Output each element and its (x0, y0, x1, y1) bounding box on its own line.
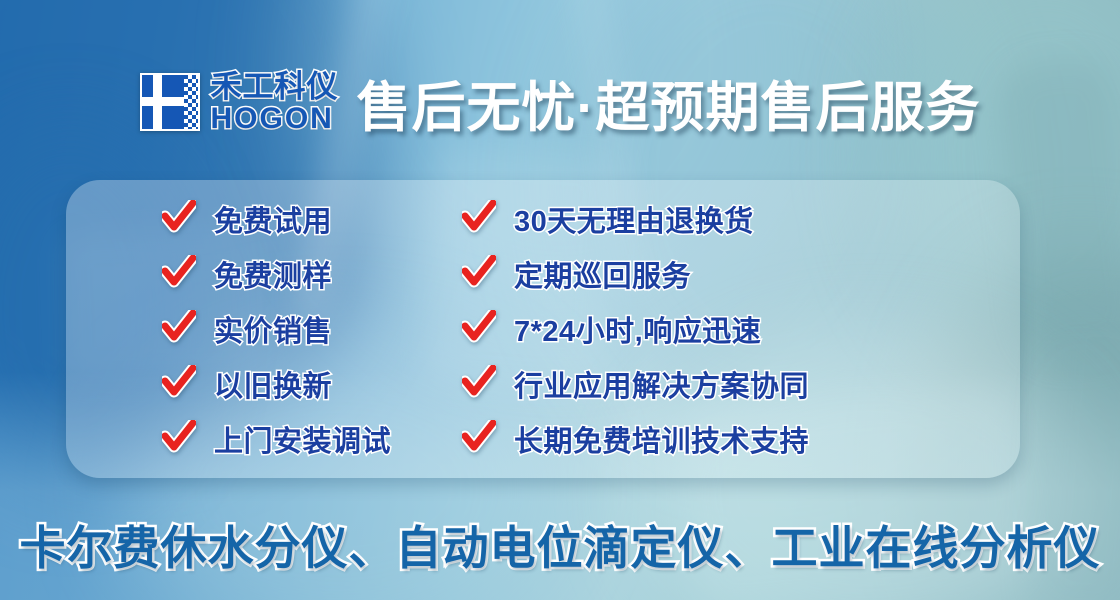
feature-label: 免费试用 (214, 198, 332, 240)
red-checkmark-icon (162, 420, 196, 454)
red-checkmark-icon (162, 310, 196, 344)
nordic-flag-logo-icon (140, 71, 202, 133)
feature-item: 上门安装调试 (162, 417, 462, 462)
features-panel: 免费试用 免费测样 实价销售 (66, 180, 1020, 478)
page-title: 售后无忧·超预期售后服务 (357, 63, 981, 142)
red-checkmark-icon (162, 255, 196, 289)
red-checkmark-icon (462, 420, 496, 454)
brand-name-cn: 禾工科仪 (211, 71, 339, 102)
feature-item: 定期巡回服务 (462, 252, 932, 297)
feature-label: 实价销售 (214, 308, 332, 350)
red-checkmark-icon (462, 200, 496, 234)
promo-banner: 禾工科仪 HOGON 售后无忧·超预期售后服务 免费试用 免费测样 (0, 0, 1120, 600)
feature-label: 以旧换新 (214, 363, 332, 405)
feature-label: 上门安装调试 (214, 418, 391, 460)
red-checkmark-icon (162, 365, 196, 399)
banner-header: 禾工科仪 HOGON 售后无忧·超预期售后服务 (0, 56, 1120, 148)
feature-item: 实价销售 (162, 307, 462, 352)
feature-item: 30天无理由退换货 (462, 197, 932, 242)
feature-item: 行业应用解决方案协同 (462, 362, 932, 407)
features-right-column: 30天无理由退换货 定期巡回服务 7*24小时,响应迅速 (462, 197, 932, 462)
brand-logo-text: 禾工科仪 HOGON (211, 71, 339, 134)
feature-item: 免费试用 (162, 197, 462, 242)
feature-label: 定期巡回服务 (514, 253, 691, 295)
feature-label: 免费测样 (214, 253, 332, 295)
feature-item: 7*24小时,响应迅速 (462, 307, 932, 352)
features-left-column: 免费试用 免费测样 实价销售 (162, 197, 462, 462)
feature-label: 行业应用解决方案协同 (514, 363, 809, 405)
feature-label: 长期免费培训技术支持 (514, 418, 809, 460)
red-checkmark-icon (162, 200, 196, 234)
red-checkmark-icon (462, 255, 496, 289)
feature-item: 以旧换新 (162, 362, 462, 407)
feature-label: 7*24小时,响应迅速 (514, 308, 761, 350)
feature-item: 免费测样 (162, 252, 462, 297)
feature-label: 30天无理由退换货 (514, 198, 754, 240)
brand-logo: 禾工科仪 HOGON (140, 71, 339, 134)
red-checkmark-icon (462, 365, 496, 399)
feature-item: 长期免费培训技术支持 (462, 417, 932, 462)
product-line-text: 卡尔费休水分仪、自动电位滴定仪、工业在线分析仪 (0, 512, 1120, 578)
brand-name-en: HOGON (211, 104, 339, 134)
red-checkmark-icon (462, 310, 496, 344)
